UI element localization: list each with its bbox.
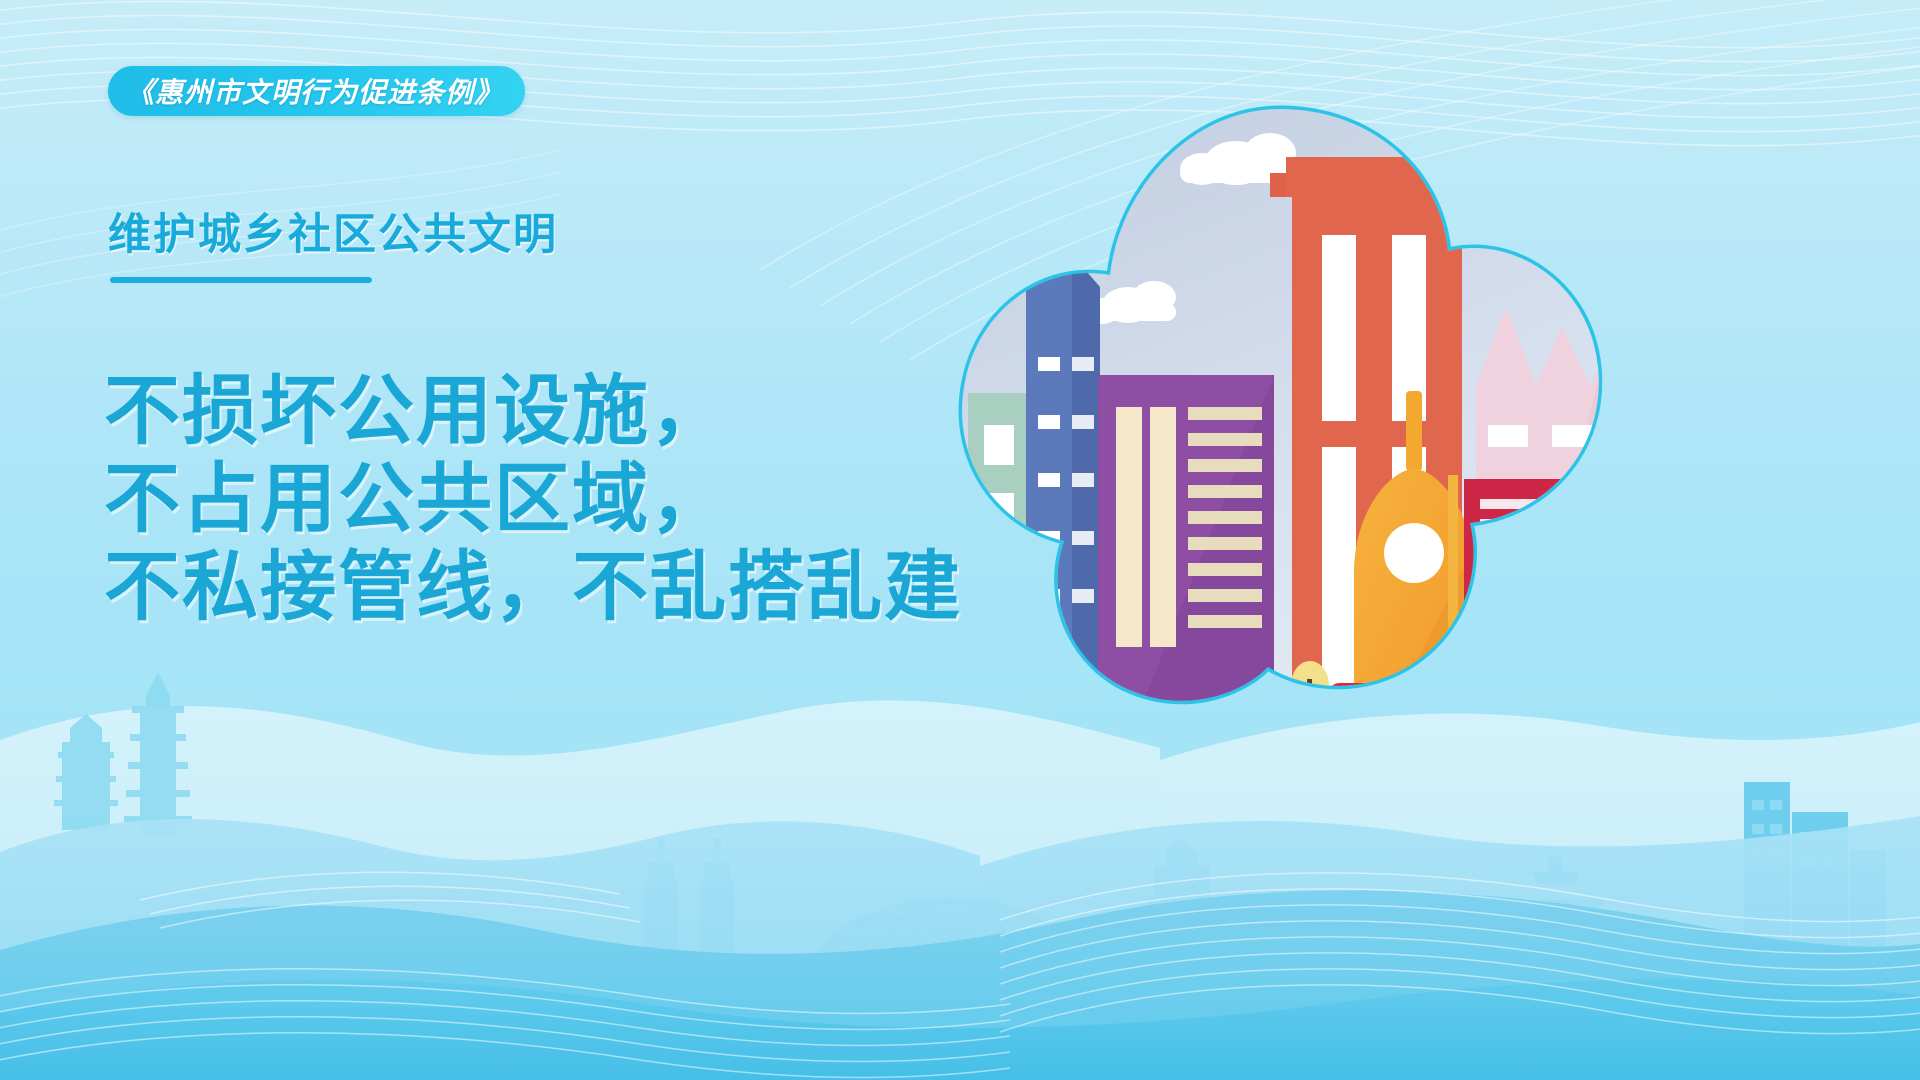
headline-line-3: 不私接管线，不乱搭乱建 bbox=[104, 544, 962, 632]
headline-line-2: 不占用公共区域， bbox=[104, 456, 962, 544]
road-dashes bbox=[958, 775, 1620, 829]
regulation-badge: 《惠州市文明行为促进条例》 bbox=[108, 66, 525, 116]
city-illustration bbox=[940, 95, 1620, 875]
poster-subtitle: 维护城乡社区公共文明 bbox=[108, 200, 558, 262]
regulation-badge-label: 《惠州市文明行为促进条例》 bbox=[126, 71, 503, 111]
small-shrub-icon bbox=[986, 676, 1018, 731]
road bbox=[940, 721, 1620, 875]
street-pole bbox=[1448, 475, 1458, 695]
double-decker-bus bbox=[1326, 683, 1594, 815]
green-tree-icon bbox=[1129, 707, 1207, 769]
text-column: 《惠州市文明行为促进条例》 维护城乡社区公共文明 不损坏公用设施， 不占用公共区… bbox=[0, 0, 980, 1080]
city-illustration-svg bbox=[940, 95, 1620, 875]
poster-canvas: 《惠州市文明行为促进条例》 维护城乡社区公共文明 不损坏公用设施， 不占用公共区… bbox=[0, 0, 1920, 1080]
headline-line-1: 不损坏公用设施， bbox=[104, 368, 962, 456]
building-purple-tower bbox=[1098, 375, 1274, 735]
building-crimson-tower bbox=[1464, 479, 1590, 729]
medallion-content bbox=[940, 95, 1620, 875]
subtitle-underline bbox=[110, 277, 372, 283]
poster-headline: 不损坏公用设施， 不占用公共区域， 不私接管线，不乱搭乱建 bbox=[104, 368, 962, 632]
